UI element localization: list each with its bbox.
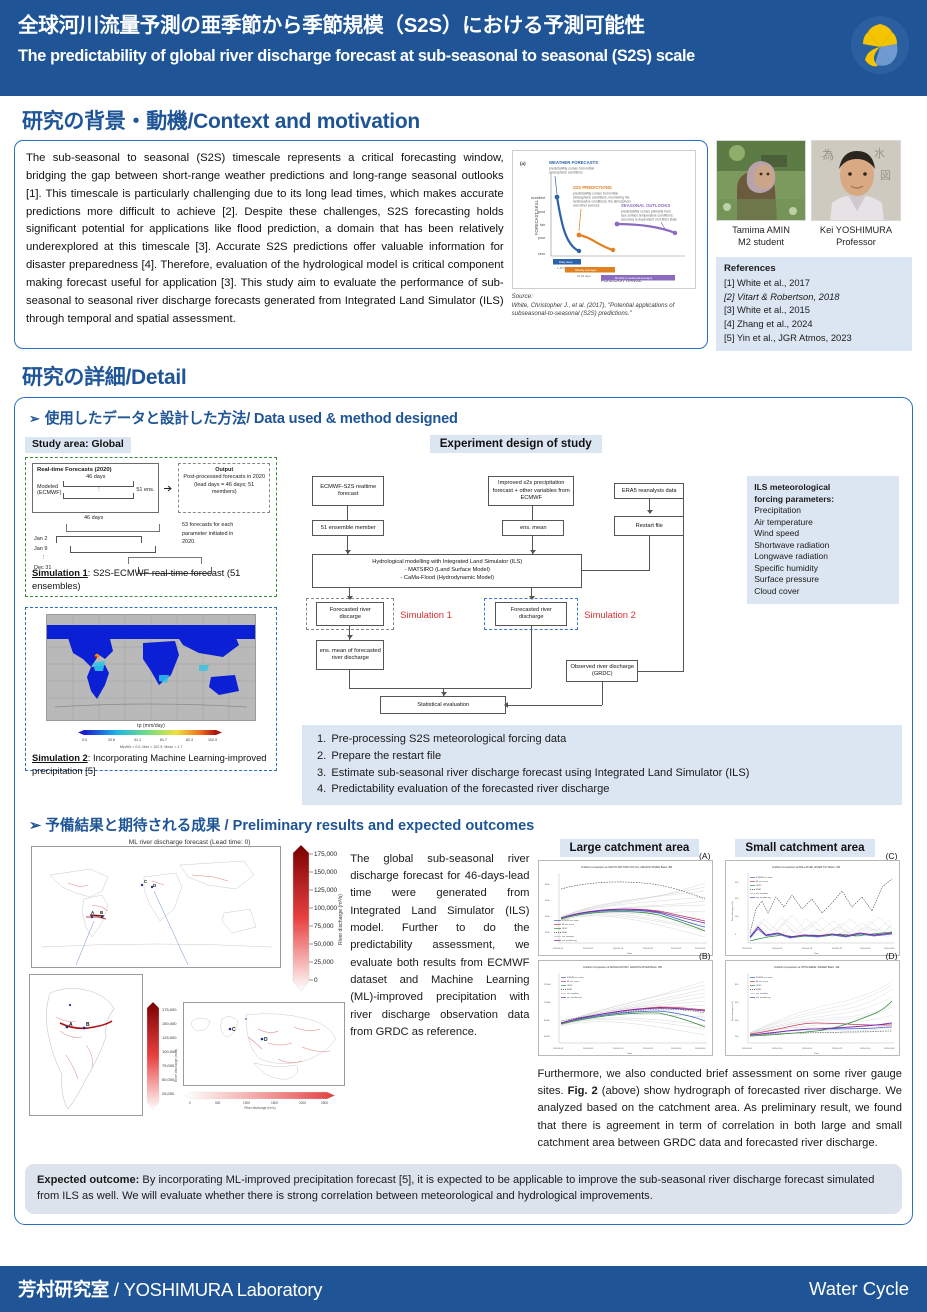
svg-text:Time: Time <box>627 1053 633 1055</box>
svg-text:atmospheric conditions: atmospheric conditions <box>549 171 583 175</box>
figure-source-caption: Source: White, Christopher J., et al. (2… <box>512 293 696 319</box>
poster-body: 研究の背景・動機/Context and motivation The sub-… <box>0 105 927 1225</box>
svg-text:1000: 1000 <box>243 1101 250 1105</box>
footer-lab-name: 芳村研究室 / YOSHIMURA Laboratory <box>18 1276 322 1302</box>
reference-item: [3] White et al., 2015 <box>724 303 904 317</box>
simulation-2-box: tp (mm/day) <box>25 607 277 771</box>
svg-text:ERA5: ERA5 <box>756 888 761 891</box>
schematic-title: Real-time Forecasts (2020) <box>37 467 154 473</box>
svg-text:2020-02-06: 2020-02-06 <box>884 948 895 950</box>
svg-text:zero: zero <box>538 252 545 256</box>
simulation-2-tag: Simulation 2 <box>584 609 636 620</box>
person-role: Professor <box>811 237 901 249</box>
svg-text:2020-02-06: 2020-02-06 <box>695 1048 706 1050</box>
methods-grid: Study area: Global Real-time Forecasts (… <box>25 434 902 771</box>
svg-text:150,000: 150,000 <box>162 1021 177 1026</box>
svg-text:61.7: 61.7 <box>160 738 167 742</box>
expected-outcome-box: Expected outcome: By incorporating ML-im… <box>25 1164 902 1213</box>
flow-node-51-ensemble-member: 51 ensemble member <box>312 520 384 536</box>
bullet-arrow-icon: ➢ <box>29 818 41 834</box>
svg-text:2020-01-30: 2020-01-30 <box>671 948 682 950</box>
svg-text:500: 500 <box>215 1101 221 1105</box>
methods-right-column: ILS meteorological forcing parameters: P… <box>747 434 902 771</box>
context-box: The sub-seasonal to seasonal (S2S) times… <box>14 140 708 349</box>
svg-text:0.0: 0.0 <box>82 738 87 742</box>
svg-text:fair: fair <box>540 223 546 227</box>
flow-node-forecasted-river-discarge-1: Forecasted river discarge <box>316 602 384 626</box>
output-text: Post-processed forecasts in 2020 (lead d… <box>182 474 266 495</box>
svg-text:Weekly averages: Weekly averages <box>575 268 597 272</box>
experiment-design-title: Experiment design of study <box>430 435 602 453</box>
svg-text:(a): (a) <box>520 161 526 166</box>
expected-outcome-text: By incorporating ML-improved precipitati… <box>37 1174 874 1202</box>
context-figure-block: (a) WEATHER FORECASTS predictability com… <box>512 150 696 342</box>
flow-node-ens-mean-forecasted-river-discharge: ens. mean of forecasted river discharge <box>316 640 384 670</box>
svg-text:2020-01-23: 2020-01-23 <box>643 1048 654 1050</box>
person-role: M2 student <box>716 237 806 249</box>
svg-text:2020-02-06: 2020-02-06 <box>695 948 706 950</box>
results-paragraph-1: The global sub-seasonal river discharge … <box>350 839 529 1153</box>
svg-text:80000: 80000 <box>544 1020 550 1022</box>
svg-text:ens. members: ens. members <box>756 892 768 895</box>
svg-text:2020-01-02: 2020-01-02 <box>553 948 564 950</box>
europe-inset-map: C D <box>183 1002 345 1086</box>
simulation-1-caption: Simulation 1: S2S-ECMWF real-time foreca… <box>32 567 270 592</box>
method-step: Pre-processing S2S meteorological forcin… <box>329 731 893 748</box>
svg-text:50,000: 50,000 <box>314 941 334 948</box>
catchment-heading-large: Large catchment area <box>560 839 700 857</box>
global-precipitation-map <box>46 614 256 721</box>
method-step: Predictability evaluation of the forecas… <box>329 781 893 798</box>
svg-text:2500: 2500 <box>321 1101 328 1105</box>
method-steps-box: Pre-processing S2S meteorological forcin… <box>302 725 902 805</box>
figure-source-lead: Source: <box>512 293 533 300</box>
svg-text:ens. members: ens. members <box>567 992 579 995</box>
svg-text:Time: Time <box>627 953 633 955</box>
references-title: References <box>724 263 904 274</box>
section-title-detail: 研究の詳細/Detail <box>22 361 913 391</box>
svg-text:Monthly to seasonal averages: Monthly to seasonal averages <box>615 276 653 280</box>
figure-source-text: White, Christopher J., et al. (2017), "P… <box>512 302 675 318</box>
svg-text:ECMWF ens. mean: ECMWF ens. mean <box>567 977 584 979</box>
svg-text:ens. member avg: ens. member avg <box>756 996 771 999</box>
svg-text:A: A <box>69 1022 73 1028</box>
simulation-1-box: Real-time Forecasts (2020) 46 days Model… <box>25 457 277 597</box>
svg-text:accuracy is dependent on ENSO: accuracy is dependent on ENSO state <box>621 218 677 222</box>
svg-text:20.6: 20.6 <box>108 738 115 742</box>
study-area-label: Study area: Global <box>25 437 131 453</box>
photo-tamima-amin <box>716 140 806 221</box>
reference-item: [5] Yin et al., JGR Atmos, 2023 <box>724 331 904 345</box>
methods-left-column: Study area: Global Real-time Forecasts (… <box>25 434 284 771</box>
person-name: Kei YOSHIMURA <box>811 225 901 237</box>
method-step: Estimate sub-seasonal river discharge fo… <box>329 765 893 782</box>
svg-text:Time: Time <box>814 1053 820 1055</box>
section-title-context: 研究の背景・動機/Context and motivation <box>22 105 913 135</box>
svg-text:River discharge (m³/s): River discharge (m³/s) <box>338 893 344 944</box>
results-heading-label: 予備結果と期待される成果 / Preliminary results and e… <box>45 818 534 834</box>
experiment-flowchart: ECMWF-S2S realtime forecast 51 ensemble … <box>294 458 737 720</box>
svg-text:2020-01-16: 2020-01-16 <box>802 948 813 950</box>
svg-text:2020-01-23: 2020-01-23 <box>643 948 654 950</box>
results-grid: ML river discharge forecast (Lead time: … <box>25 839 902 1153</box>
hydrograph-panel-d: (D) Outflow Comparison at INTSCHEDE, WES… <box>725 960 900 1056</box>
svg-text:2020-02-06: 2020-02-06 <box>884 1048 895 1050</box>
flow-node-improved-s2s-precipitation: Improved s2s precipitation forecast + ot… <box>488 476 574 506</box>
svg-text:ECMWF ens. mean: ECMWF ens. mean <box>756 877 773 879</box>
svg-text:ens. members: ens. members <box>756 992 768 995</box>
hydrograph-panel-b: (B) Outflow Comparison at MANACAPURU, AM… <box>538 960 713 1056</box>
svg-text:FORECAST SKILL: FORECAST SKILL <box>534 199 539 235</box>
svg-text:2020-01-09: 2020-01-09 <box>583 948 594 950</box>
svg-text:2020-01-23: 2020-01-23 <box>832 948 843 950</box>
schematic-note: 53 forecasts for each parameter initiate… <box>182 521 246 546</box>
context-paragraph: The sub-seasonal to seasonal (S2S) times… <box>26 150 504 342</box>
svg-text:and other sources: and other sources <box>573 204 600 208</box>
svg-text:25,000: 25,000 <box>314 959 334 966</box>
svg-text:ens. member avg: ens. member avg <box>756 896 771 899</box>
svg-text:Daily issue: Daily issue <box>559 260 573 264</box>
svg-text:2020-01-30: 2020-01-30 <box>671 1048 682 1050</box>
svg-text:2020-01-02: 2020-01-02 <box>553 1048 564 1050</box>
svg-text:75,000: 75,000 <box>314 923 334 930</box>
ml-river-discharge-world-map: A B C D <box>31 846 281 968</box>
bullet-arrow-icon: ➢ <box>29 411 40 426</box>
svg-text:ens. member avg: ens. member avg <box>567 996 582 999</box>
flow-node-restart-file: Restart file <box>614 516 684 536</box>
svg-text:100000: 100000 <box>544 1002 552 1004</box>
svg-text:150,000: 150,000 <box>314 869 338 876</box>
svg-text:ML ens. mean: ML ens. mean <box>562 924 574 926</box>
svg-text:2020-01-30: 2020-01-30 <box>860 948 871 950</box>
s2s-forecast-skill-figure: (a) WEATHER FORECASTS predictability com… <box>512 150 696 289</box>
realtime-forecast-schematic: Real-time Forecasts (2020) 46 days Model… <box>32 463 159 513</box>
context-right-column: Tamima AMIN M2 student 為 水 図 <box>716 140 912 351</box>
schematic-row-label: ⋮ <box>41 555 47 561</box>
inset-colorbar-label: River discharge (m³/s) <box>185 1106 335 1110</box>
hydrograph-panel-c: (C) Outflow Comparison at BALLATHIE, RIV… <box>725 860 900 956</box>
reference-item: [2] Vitart & Robertson, 2018 <box>724 290 904 304</box>
svg-text:C: C <box>232 1027 236 1033</box>
header-title-japanese: 全球河川流量予測の亜季節から季節規模（S2S）における予測可能性 <box>18 13 927 39</box>
poster-header: 全球河川流量予測の亜季節から季節規模（S2S）における予測可能性 The pre… <box>0 0 927 96</box>
svg-text:D: D <box>264 1037 268 1043</box>
forcing-item: Shortwave radiation <box>754 540 892 551</box>
hydrograph-panel-a: (A) Outflow Comparison at SANTO ANTONIO … <box>538 860 713 956</box>
svg-text:ECMWF ens. mean: ECMWF ens. mean <box>562 920 579 922</box>
forcing-item: Surface pressure <box>754 574 892 585</box>
forcing-item: Air temperature <box>754 517 892 528</box>
svg-text:GRDC: GRDC <box>567 985 573 987</box>
svg-text:Outflow Comparison at INTSCHED: Outflow Comparison at INTSCHEDE, WESER B… <box>774 965 840 969</box>
svg-text:ML ens. mean: ML ens. mean <box>756 881 768 883</box>
svg-text:ERA5: ERA5 <box>756 988 761 991</box>
catchment-heading-small: Small catchment area <box>735 839 874 857</box>
reference-item: [4] Zhang et al., 2024 <box>724 317 904 331</box>
subsection-heading-results: ➢ 予備結果と期待される成果 / Preliminary results and… <box>29 817 574 837</box>
svg-text:D: D <box>153 883 156 888</box>
svg-text:2020-01-02: 2020-01-02 <box>742 948 753 950</box>
schematic-arrow-icon <box>164 463 173 513</box>
svg-text:82.3: 82.3 <box>186 738 193 742</box>
svg-text:2020-01-16: 2020-01-16 <box>613 948 624 950</box>
svg-text:為: 為 <box>822 148 834 162</box>
flow-node-observed-river-discharge-grdc: Observed river discharge (GRDC) <box>566 660 638 682</box>
svg-text:125,000: 125,000 <box>314 887 338 894</box>
svg-text:125,000: 125,000 <box>162 1035 177 1040</box>
svg-text:Outflow Comparison at BALLATHI: Outflow Comparison at BALLATHIE, RIVER T… <box>772 865 840 869</box>
forcing-item: Precipitation <box>754 505 892 516</box>
flow-node-ecmwf-s2s-realtime-forecast: ECMWF-S2S realtime forecast <box>312 476 384 506</box>
ils-forcing-parameters-box: ILS meteorological forcing parameters: P… <box>747 476 899 604</box>
simulation-2-label: Simulation 2 <box>32 752 88 763</box>
svg-text:ML ens. mean: ML ens. mean <box>567 981 579 983</box>
svg-text:excellent: excellent <box>531 196 545 200</box>
flow-node-statistical-evaluation: Statistical evaluation <box>380 696 506 714</box>
svg-text:River discharge (m³/s): River discharge (m³/s) <box>731 901 734 921</box>
university-of-tokyo-ginkgo-logo-icon <box>849 14 911 76</box>
expected-outcome-label: Expected outcome: <box>37 1174 139 1186</box>
results-maps-column: ML river discharge forecast (Lead time: … <box>25 839 342 1153</box>
svg-text:River discharge (m³/s): River discharge (m³/s) <box>174 1048 178 1081</box>
hydrograph-chart-grid: (A) Outflow Comparison at SANTO ANTONIO … <box>538 860 903 1056</box>
svg-text:2020-01-09: 2020-01-09 <box>772 1048 783 1050</box>
svg-text:175,000: 175,000 <box>314 851 338 858</box>
svg-text:0: 0 <box>189 1101 191 1105</box>
output-schematic: Output Post-processed forecasts in 2020 … <box>178 463 270 513</box>
photo-kei-yoshimura: 為 水 図 <box>811 140 901 221</box>
output-title: Output <box>182 467 266 474</box>
svg-text:175,000: 175,000 <box>162 1007 177 1012</box>
context-row: The sub-seasonal to seasonal (S2S) times… <box>14 140 913 351</box>
svg-text:2020-01-23: 2020-01-23 <box>832 1048 843 1050</box>
south-america-inset-map: A B <box>29 974 143 1116</box>
person-name: Tamima AMIN <box>716 225 806 237</box>
people-list: Tamima AMIN M2 student 為 水 図 <box>716 140 912 248</box>
svg-text:ML ens. mean: ML ens. mean <box>756 981 768 983</box>
forcing-item: Wind speed <box>754 528 892 539</box>
svg-text:60000: 60000 <box>544 1036 550 1038</box>
references-box: References [1] White et al., 2017 [2] Vi… <box>716 257 912 351</box>
header-title-english: The predictability of global river disch… <box>18 47 927 66</box>
svg-text:SEASONAL OUTLOOKS: SEASONAL OUTLOOKS <box>621 203 670 208</box>
person-card: 為 水 図 Kei YOSHIMURA Pro <box>811 140 901 248</box>
europe-colorbar: 05001000 150020002500 River discharge (m… <box>185 1090 341 1110</box>
person-card: Tamima AMIN M2 student <box>716 140 806 248</box>
svg-text:25,000: 25,000 <box>162 1091 175 1096</box>
svg-text:GRDC: GRDC <box>756 985 762 987</box>
svg-text:2020-01-09: 2020-01-09 <box>583 1048 594 1050</box>
svg-text:2020-01-16: 2020-01-16 <box>802 1048 813 1050</box>
flow-node-era5-reanalysis-data: ERA5 reanalysis data <box>614 483 684 499</box>
svg-text:ECMWF ens. mean: ECMWF ens. mean <box>756 977 773 979</box>
forcing-title-line1: ILS meteorological <box>754 482 892 493</box>
svg-text:poor: poor <box>538 236 546 240</box>
schematic-days-top: 46 days <box>37 474 154 480</box>
results-charts-column: Large catchment area Small catchment are… <box>538 839 903 1153</box>
schematic-days-mid: 46 days <box>84 515 103 521</box>
svg-text:WEATHER FORECASTS: WEATHER FORECASTS <box>549 160 598 165</box>
svg-text:ERA5: ERA5 <box>567 988 572 991</box>
detail-outer-box: ➢使用したデータと設計した方法/ Data used & method desi… <box>14 397 913 1224</box>
colorbar-title: tp (mm/day) <box>32 723 270 729</box>
svg-text:Outflow Comparison at MANACAPU: Outflow Comparison at MANACAPURU, AMAZON… <box>583 965 662 969</box>
svg-text:good: good <box>537 210 545 214</box>
colorbar-note: Min/Mx = 0.0, Max = 102.9, Mean = 1.7 <box>32 745 270 749</box>
method-step: Prepare the restart file <box>329 748 893 765</box>
forcing-item: Longwave radiation <box>754 551 892 562</box>
subsection-heading-data-method: ➢使用したデータと設計した方法/ Data used & method desi… <box>29 407 902 428</box>
hydro-line-2: - MATSIRO (Land Surface Model) <box>405 567 490 575</box>
svg-text:41.1: 41.1 <box>134 738 141 742</box>
poster-footer: 芳村研究室 / YOSHIMURA Laboratory Water Cycle <box>0 1266 927 1312</box>
svg-text:2020-01-30: 2020-01-30 <box>860 1048 871 1050</box>
simulation-1-label: Simulation 1 <box>32 567 88 578</box>
svg-text:B: B <box>100 910 103 915</box>
svg-text:15-30 days: 15-30 days <box>577 274 591 278</box>
svg-text:2020-01-16: 2020-01-16 <box>613 1048 624 1050</box>
svg-text:図: 図 <box>880 169 891 182</box>
svg-text:ens. members: ens. members <box>562 935 574 938</box>
footer-lab-japanese: 芳村研究室 <box>18 1279 109 1300</box>
forcing-item: Specific humidity <box>754 563 892 574</box>
svg-text:2020-01-02: 2020-01-02 <box>742 1048 753 1050</box>
svg-text:ens. member avg: ens. member avg <box>562 939 577 942</box>
svg-text:水: 水 <box>874 147 885 160</box>
subsection-label: 使用したデータと設計した方法/ Data used & method desig… <box>45 411 458 427</box>
footer-lab-english: / YOSHIMURA Laboratory <box>109 1279 322 1300</box>
svg-text:100,000: 100,000 <box>314 905 338 912</box>
svg-text:GRDC: GRDC <box>562 928 568 930</box>
south-america-colorbar: 175,000150,000 125,000100,000 75,00050,0… <box>143 1002 179 1114</box>
svg-text:2020-01-09: 2020-01-09 <box>772 948 783 950</box>
svg-text:S2S PREDICTIONS: S2S PREDICTIONS <box>573 185 612 190</box>
forcing-title-line2: forcing parameters: <box>754 494 892 505</box>
svg-text:GRDC: GRDC <box>756 885 762 887</box>
catchment-headings: Large catchment area Small catchment are… <box>560 839 903 857</box>
schematic-row-label: Jan 2 <box>34 536 47 542</box>
svg-text:B: B <box>86 1022 90 1028</box>
simulation-1-tag: Simulation 1 <box>400 609 452 620</box>
schematic-row-label: Jan 9 <box>34 546 47 552</box>
flow-node-hydrological-modelling: Hydrological modelling with Integrated L… <box>312 554 582 588</box>
svg-text:River discharge (m³/s): River discharge (m³/s) <box>731 1001 734 1021</box>
results-paragraph-2: Furthermore, we also conducted brief ass… <box>538 1066 903 1153</box>
methods-middle-column: Experiment design of study ECMWF-S2S rea… <box>294 434 737 771</box>
svg-text:2000: 2000 <box>299 1101 306 1105</box>
svg-text:1500: 1500 <box>271 1101 278 1105</box>
flow-node-ens-mean: ens. mean <box>502 520 564 536</box>
svg-text:Time: Time <box>814 953 820 955</box>
svg-text:Outflow Comparison at SANTO AN: Outflow Comparison at SANTO ANTONIO DO I… <box>581 865 672 869</box>
schematic-modeled-line2: (ECMWF) <box>37 490 61 496</box>
flow-node-forecasted-river-discharge-2: Forecasted river discharge <box>495 602 567 626</box>
hydro-line-3: - CaMa-Flood (Hydrodynamic Model) <box>400 575 494 583</box>
footer-theme-label: Water Cycle <box>809 1278 909 1300</box>
schematic-ens-label: 51 ens. <box>136 487 154 493</box>
forcing-item: Cloud cover <box>754 586 892 597</box>
svg-text:120000: 120000 <box>544 984 552 986</box>
precipitation-colorbar: tp (mm/day) <box>32 723 270 749</box>
reference-item: [1] White et al., 2017 <box>724 276 904 290</box>
svg-text:102.9: 102.9 <box>208 738 217 742</box>
hydro-line-1: Hydrological modelling with Integrated L… <box>372 559 522 567</box>
svg-text:ERA5: ERA5 <box>562 931 567 934</box>
